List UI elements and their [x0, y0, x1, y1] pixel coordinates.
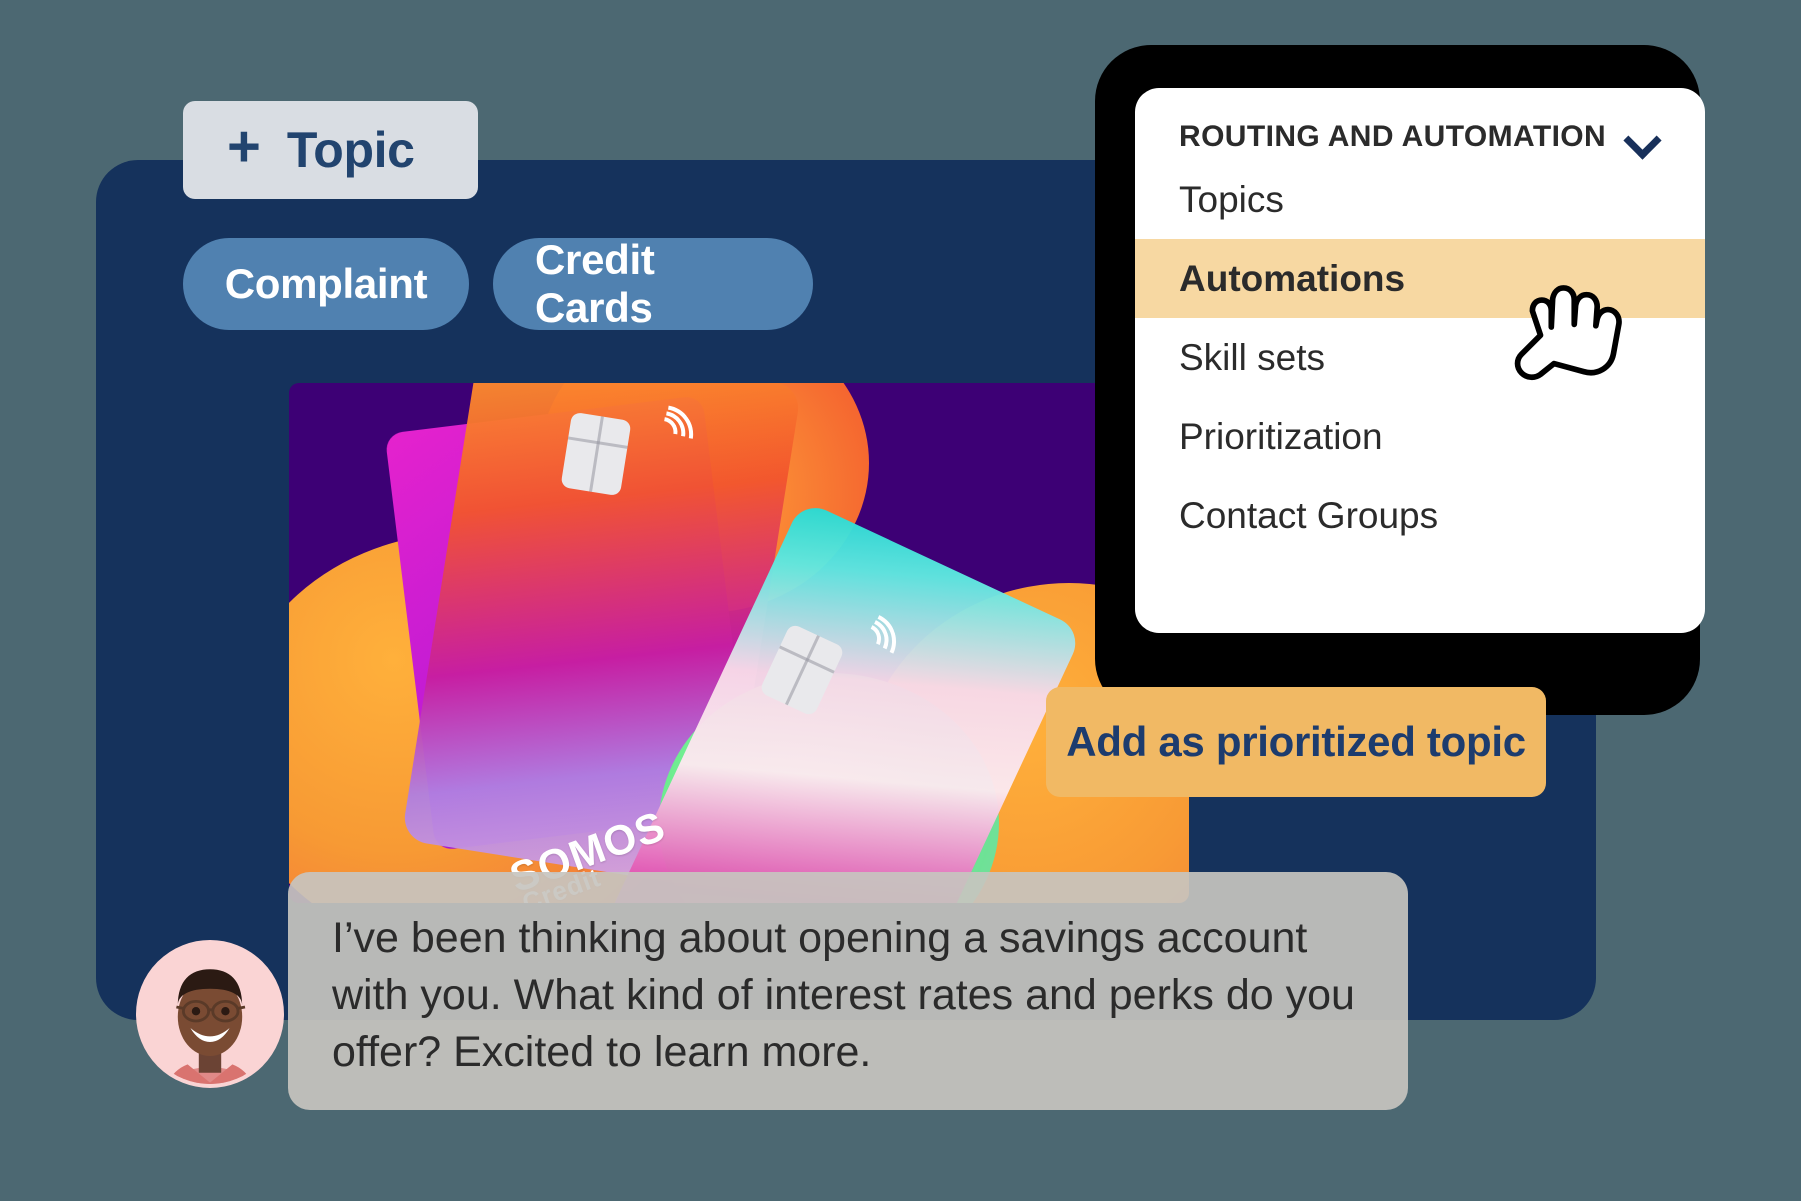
- topic-tag-label: Complaint: [225, 260, 428, 308]
- menu-item-topics[interactable]: Topics: [1135, 160, 1705, 239]
- menu-item-prioritization[interactable]: Prioritization: [1135, 397, 1705, 476]
- scene: SOMOS Credit + Topic Complaint Credit Ca…: [0, 0, 1801, 1201]
- chevron-down-icon[interactable]: [1627, 127, 1661, 147]
- plus-icon: +: [227, 118, 261, 176]
- add-topic-label: Topic: [287, 121, 415, 179]
- topic-tag-credit-cards[interactable]: Credit Cards: [493, 238, 813, 330]
- menu-item-contact-groups[interactable]: Contact Groups: [1135, 476, 1705, 555]
- add-prioritized-topic-label: Add as prioritized topic: [1066, 718, 1526, 766]
- menu-item-label: Automations: [1179, 258, 1405, 300]
- menu-item-skill-sets[interactable]: Skill sets: [1135, 318, 1705, 397]
- topic-tag-complaint[interactable]: Complaint: [183, 238, 469, 330]
- menu-item-label: Prioritization: [1179, 416, 1383, 458]
- message-bubble: I’ve been thinking about opening a savin…: [288, 872, 1408, 1110]
- dropdown-header[interactable]: ROUTING AND AUTOMATION: [1135, 88, 1705, 160]
- menu-item-label: Topics: [1179, 179, 1284, 221]
- credit-card-artwork: SOMOS Credit: [289, 383, 1189, 903]
- menu-item-label: Contact Groups: [1179, 495, 1438, 537]
- add-prioritized-topic-button[interactable]: Add as prioritized topic: [1046, 687, 1546, 797]
- contactless-icon: [642, 401, 707, 471]
- dropdown-header-label: ROUTING AND AUTOMATION: [1179, 120, 1606, 154]
- add-topic-button[interactable]: + Topic: [183, 101, 478, 199]
- menu-item-label: Skill sets: [1179, 337, 1325, 379]
- menu-item-automations[interactable]: Automations: [1135, 239, 1705, 318]
- routing-automation-dropdown: ROUTING AND AUTOMATION Topics Automation…: [1135, 88, 1705, 633]
- message-text: I’ve been thinking about opening a savin…: [332, 914, 1355, 1076]
- avatar-illustration: [140, 944, 280, 1084]
- topic-tag-label: Credit Cards: [535, 236, 771, 332]
- card-chip-icon: [560, 412, 631, 496]
- avatar: [136, 940, 284, 1088]
